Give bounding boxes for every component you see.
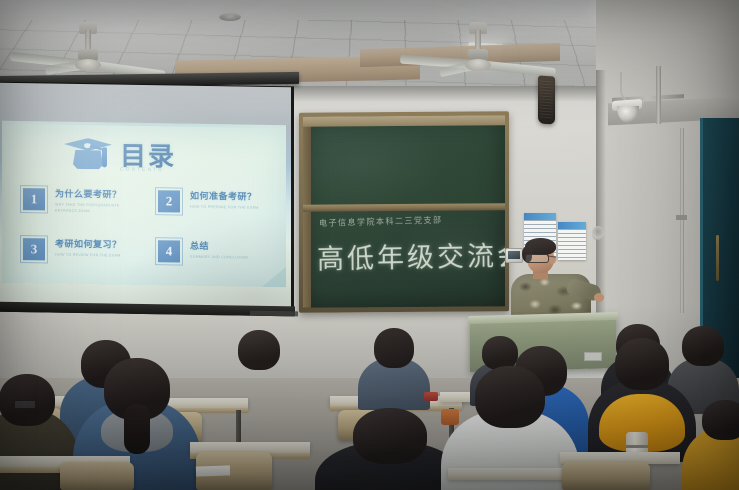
projector-screen: 目录 CONTENTS 1 为什么要考研？ WHY TAKE THE POSTG… — [0, 83, 291, 312]
student-head — [238, 330, 280, 370]
item-heading: 考研如何复习？ — [55, 237, 122, 251]
fan-hub — [465, 59, 491, 71]
chair — [562, 462, 650, 490]
item-number-box: 1 — [20, 185, 48, 213]
item-heading: 如何准备考研？ — [190, 189, 259, 203]
item-number-box: 4 — [155, 237, 183, 265]
list-item — [228, 330, 290, 404]
blackboard-surface: 电子信息学院本科二三党支部 高低年级交流会 — [303, 115, 505, 307]
item-number: 1 — [23, 188, 45, 210]
item-subtext: WHY TAKE THE POSTGRADUATE ENTRANCE EXAM — [55, 202, 137, 216]
conduit-clip — [676, 215, 687, 220]
list-item: 2 如何准备考研？ HOW TO PREPARE FOR THE EXAM — [155, 187, 272, 218]
item-subtext: HOW TO PREPARE FOR THE EXAM — [190, 204, 259, 212]
ponytail — [124, 404, 150, 454]
glasses-icon — [14, 400, 36, 409]
presentation-slide: 目录 CONTENTS 1 为什么要考研？ WHY TAKE THE POSTG… — [2, 121, 286, 287]
classroom-photo: 目录 CONTENTS 1 为什么要考研？ WHY TAKE THE POSTG… — [0, 0, 739, 490]
item-subtext: SUMMARY AND CONCLUSION — [190, 254, 248, 261]
poster-header-band — [524, 213, 556, 220]
blackboard: 电子信息学院本科二三党支部 高低年级交流会 — [299, 111, 509, 312]
poster-header-band — [558, 222, 586, 229]
red-object — [424, 392, 438, 401]
blackboard-chalk-haze — [303, 115, 505, 307]
slide-contents-list: 1 为什么要考研？ WHY TAKE THE POSTGRADUATE ENTR… — [20, 185, 272, 267]
list-item — [328, 408, 452, 490]
item-number: 2 — [158, 190, 180, 212]
student-head — [374, 328, 414, 368]
glasses-icon — [525, 254, 549, 263]
blackboard-top-strip — [303, 115, 505, 126]
graduation-cap-icon — [64, 135, 112, 176]
item-subtext: HOW TO REVIEW FOR THE EXAM — [55, 252, 122, 260]
slide-top-accent — [2, 121, 286, 128]
item-number: 3 — [23, 238, 45, 260]
door-handle[interactable] — [716, 235, 719, 281]
item-number: 4 — [158, 240, 180, 262]
item-text: 总结 SUMMARY AND CONCLUSION — [190, 238, 248, 261]
list-item — [363, 328, 425, 408]
fan-rod — [85, 30, 91, 50]
item-text: 为什么要考研？ WHY TAKE THE POSTGRADUATE ENTRAN… — [55, 186, 137, 216]
blackboard-divider-rail — [303, 203, 505, 211]
screen-weight-bar — [250, 311, 298, 317]
item-number-box: 3 — [20, 235, 48, 263]
recessed-light-icon — [219, 13, 241, 21]
student-head — [702, 400, 739, 440]
notebook — [196, 465, 230, 476]
fan-rod — [475, 30, 481, 50]
slide-subtitle: CONTENTS — [120, 167, 164, 174]
item-text: 如何准备考研？ HOW TO PREPARE FOR THE EXAM — [190, 188, 259, 212]
student-head — [475, 366, 545, 428]
thermos-cap — [626, 432, 648, 445]
list-item: 1 为什么要考研？ WHY TAKE THE POSTGRADUATE ENTR… — [20, 185, 137, 216]
cap-base — [73, 150, 103, 169]
electrical-conduit — [680, 128, 684, 313]
slide-title: 目录 — [120, 143, 176, 170]
thermos-ring — [626, 445, 648, 448]
slide-corner-accent — [261, 266, 286, 287]
blackboard-left-rail — [303, 117, 311, 308]
student-head — [353, 408, 427, 464]
list-item: 3 考研如何复习？ HOW TO REVIEW FOR THE EXAM — [20, 235, 137, 265]
item-heading: 为什么要考研？ — [55, 187, 137, 201]
blackboard-main-text: 高低年级交流会 — [317, 234, 505, 276]
chair — [60, 462, 134, 490]
cap-tassel — [102, 147, 107, 167]
electrical-conduit — [656, 66, 661, 124]
list-item — [690, 400, 739, 490]
item-number-box: 2 — [155, 187, 183, 215]
item-heading: 总结 — [190, 239, 248, 253]
desk — [448, 468, 578, 480]
presenter-hand — [594, 293, 604, 302]
student-head — [682, 326, 724, 366]
student-head — [615, 338, 669, 390]
speaker-icon — [538, 75, 555, 124]
item-text: 考研如何复习？ HOW TO REVIEW FOR THE EXAM — [55, 236, 122, 260]
fan-hub — [75, 59, 101, 71]
slide-header: 目录 — [64, 132, 244, 181]
list-item: 4 总结 SUMMARY AND CONCLUSION — [155, 237, 272, 267]
